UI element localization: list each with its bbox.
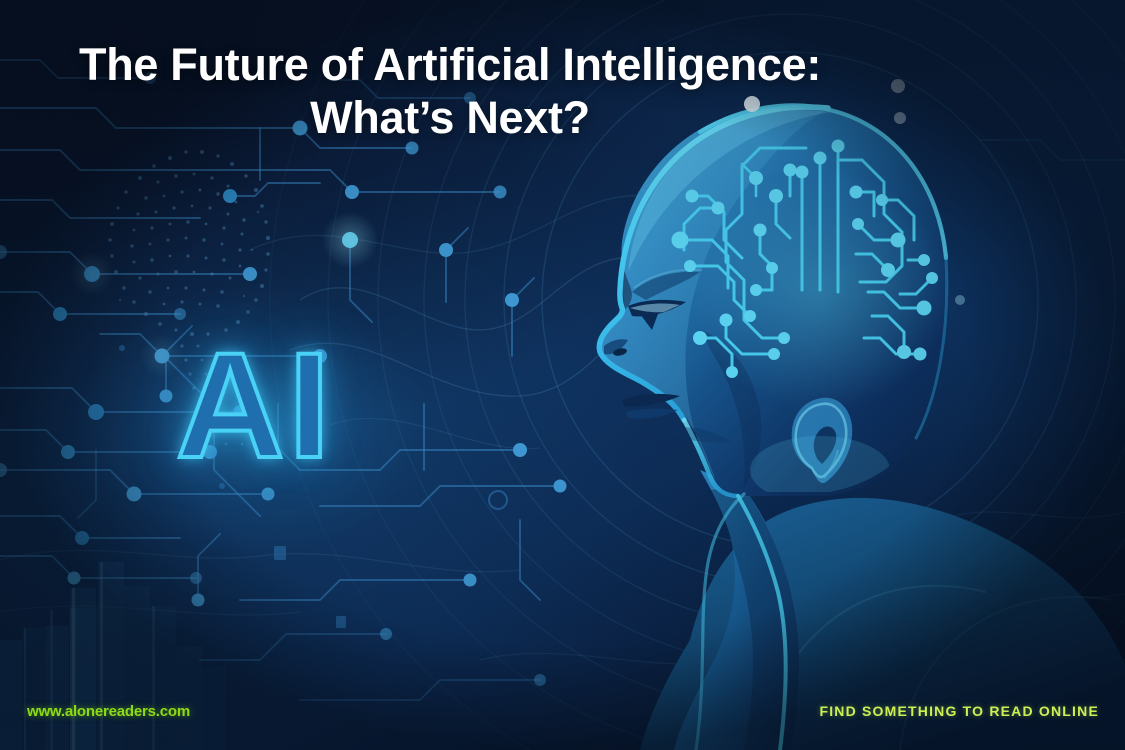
site-url[interactable]: www.alonereaders.com: [27, 703, 190, 720]
poster-artwork: [0, 0, 1125, 750]
site-tagline: FIND SOMETHING TO READ ONLINE: [819, 703, 1099, 719]
poster-canvas: The Future of Artificial Intelligence: W…: [0, 0, 1125, 750]
